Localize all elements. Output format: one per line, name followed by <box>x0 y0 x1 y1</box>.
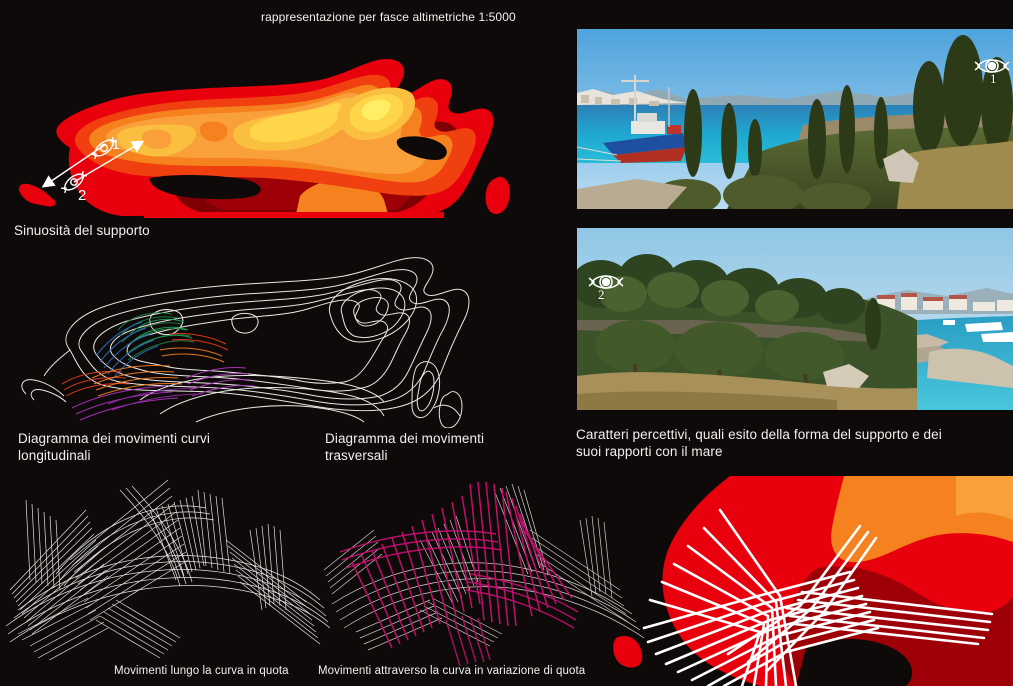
caption-movimenti-attraverso: Movimenti attraverso la curva in variazi… <box>318 664 585 678</box>
label-diagramma-trasversali: Diagramma dei movimenti trasversali <box>325 430 484 464</box>
photo-viewpoint-2 <box>577 228 1013 410</box>
label-sinuosita: Sinuosità del supporto <box>14 222 150 239</box>
page-title: rappresentazione per fasce altimetriche … <box>261 9 516 26</box>
photo2-viewpoint-number: 2 <box>598 287 605 303</box>
photo1-viewpoint-number: 1 <box>990 71 997 87</box>
label-caratteri-percettivi: Caratteri percettivi, quali esito della … <box>576 426 942 460</box>
diagram-longitudinal-curves <box>0 470 330 660</box>
sight-line-arrows <box>38 128 168 206</box>
elevation-detail-map <box>600 476 1013 686</box>
diagram-transversal-movements <box>320 470 650 670</box>
caption-movimenti-lungo: Movimenti lungo la curva in quota <box>114 664 289 678</box>
photo-viewpoint-1 <box>577 29 1013 209</box>
poster-canvas: rappresentazione per fasce altimetriche … <box>0 0 1013 686</box>
label-diagramma-curvi: Diagramma dei movimenti curvi longitudin… <box>18 430 210 464</box>
photo2-viewpoint-icon: 2 <box>584 268 630 302</box>
contour-map <box>0 238 560 428</box>
photo1-viewpoint-icon: 1 <box>970 52 1013 86</box>
